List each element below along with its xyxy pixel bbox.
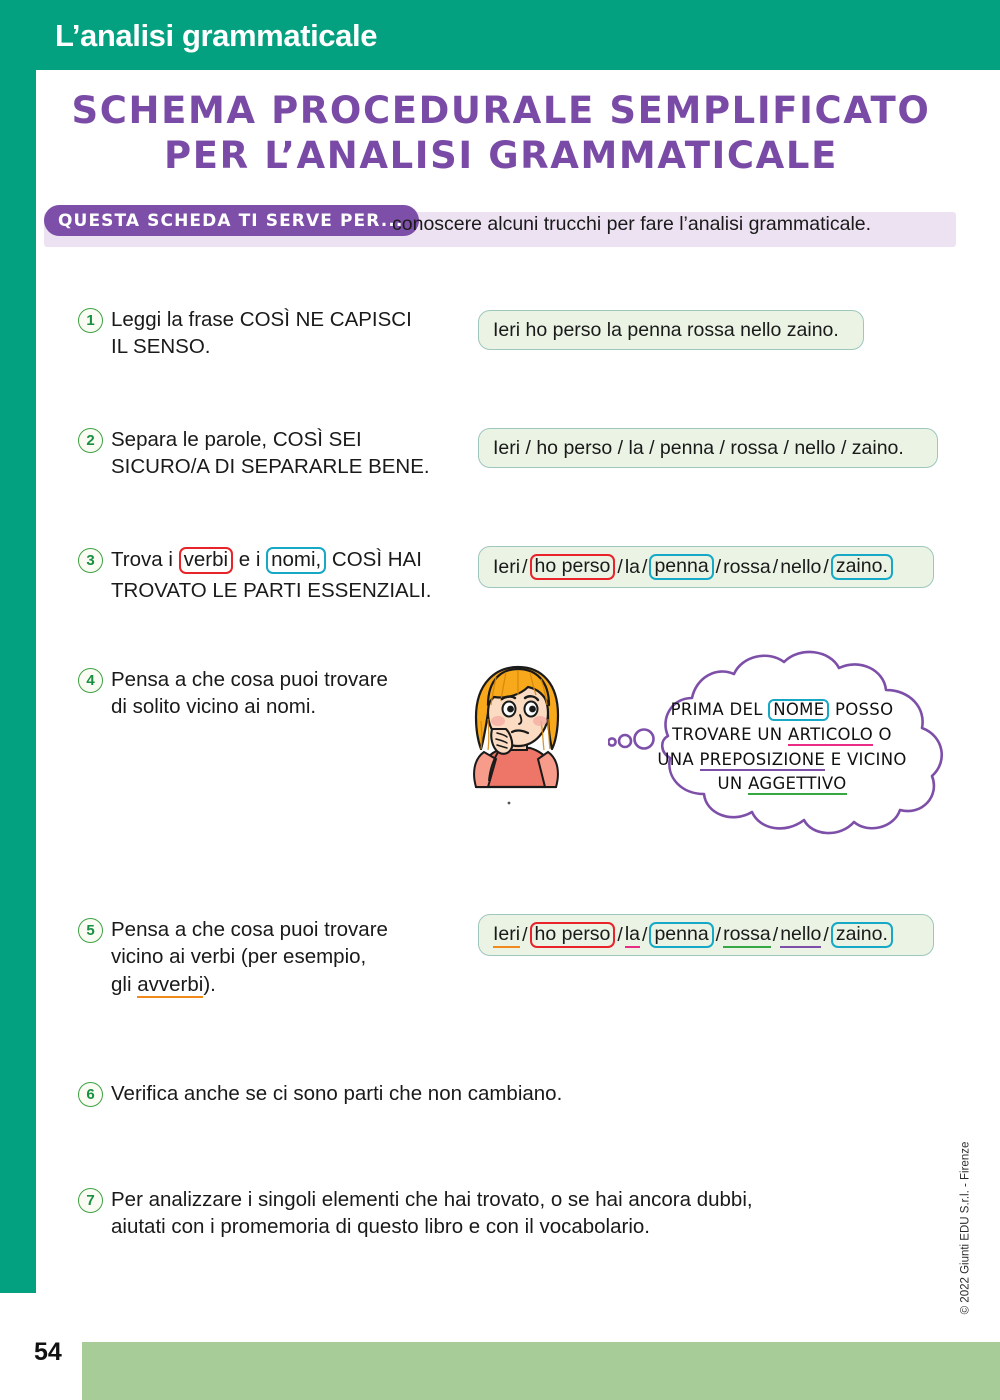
- step-5-l3-pre: gli: [111, 973, 137, 996]
- worksheet-title-line-2: PER L’ANALISI GRAMMATICALE: [36, 133, 966, 178]
- example-3-word-4-noun: penna: [649, 554, 713, 579]
- step-4-number: 4: [78, 668, 103, 693]
- step-1-text: Leggi la frase COSÌ NE CAPISCI IL SENSO.: [111, 306, 412, 361]
- thought-line-3: UNA PREPOSIZIONE E VICINO: [630, 748, 934, 773]
- step-3-mid: e i: [233, 548, 266, 571]
- example-box-1: Ieri ho perso la penna rossa nello zaino…: [478, 310, 864, 350]
- step-5-number: 5: [78, 918, 103, 943]
- example-3-word-2-verb: ho perso: [530, 554, 616, 579]
- example-3-sep-4: /: [714, 556, 723, 579]
- step-3-post: COSÌ HAI: [326, 548, 422, 571]
- step-4-text: Pensa a che cosa puoi trovare di solito …: [111, 666, 388, 721]
- example-5-word-1-adverb: Ieri: [493, 923, 520, 948]
- example-5-sep-3: /: [640, 924, 649, 947]
- page-number: 54: [34, 1338, 62, 1367]
- step-2-text: Separa le parole, COSÌ SEI SICURO/A DI S…: [111, 426, 430, 481]
- example-2-sentence: Ieri / ho perso / la / penna / rossa / n…: [493, 437, 904, 460]
- example-3-sep-1: /: [520, 556, 529, 579]
- thought-underlined-preposizione: PREPOSIZIONE: [700, 750, 826, 771]
- thought-underlined-articolo: ARTICOLO: [788, 725, 873, 746]
- example-3-word-1: Ieri: [493, 556, 520, 579]
- thinking-girl-illustration: [452, 655, 622, 815]
- example-5-sep-6: /: [821, 924, 830, 947]
- step-5-line-3: gli avverbi).: [111, 971, 388, 998]
- serve-per-tag-label: QUESTA SCHEDA TI SERVE PER...: [58, 211, 403, 231]
- copyright-notice: © 2022 Giunti EDU S.r.l. - Firenze: [960, 1136, 972, 1321]
- step-6-text: Verifica anche se ci sono parti che non …: [111, 1080, 562, 1107]
- example-3-sep-5: /: [771, 556, 780, 579]
- step-3-pre: Trova i: [111, 548, 179, 571]
- step-1-line-2: IL SENSO.: [111, 333, 412, 360]
- example-3-word-3: la: [625, 556, 640, 579]
- step-3-boxed-verbi: verbi: [179, 547, 233, 574]
- thought-l2-pre: TROVARE UN: [672, 725, 788, 744]
- example-3-word-7-noun: zaino.: [831, 554, 893, 579]
- thought-underlined-aggettivo: AGGETTIVO: [748, 774, 846, 795]
- thought-line-2: TROVARE UN ARTICOLO O: [630, 723, 934, 748]
- example-5-word-3-article: la: [625, 923, 640, 948]
- step-1-number: 1: [78, 308, 103, 333]
- thought-l3-pre: UNA: [657, 750, 699, 769]
- example-3-sep-2: /: [615, 556, 624, 579]
- thought-l3-post: E VICINO: [825, 750, 907, 769]
- example-5-word-5-adjective: rossa: [723, 923, 771, 948]
- step-5-line-1: Pensa a che cosa puoi trovare: [111, 916, 388, 943]
- step-7-line-1: Per analizzare i singoli elementi che ha…: [111, 1186, 753, 1213]
- thought-boxed-nome: NOME: [768, 699, 829, 721]
- step-2-line-1: Separa le parole, COSÌ SEI: [111, 426, 430, 453]
- step-4-line-2: di solito vicino ai nomi.: [111, 693, 388, 720]
- example-5-word-2-verb: ho perso: [530, 922, 616, 947]
- example-box-5: Ieri/ho perso/la/penna/rossa/nello/zaino…: [478, 914, 934, 956]
- step-3-number: 3: [78, 548, 103, 573]
- page-title: L’analisi grammaticale: [55, 18, 377, 54]
- thought-l2-post: O: [873, 725, 892, 744]
- step-5-line-2: vicino ai verbi (per esempio,: [111, 943, 388, 970]
- example-5-sep-2: /: [615, 924, 624, 947]
- example-5-sep-4: /: [714, 924, 723, 947]
- thought-l1-pre: PRIMA DEL: [671, 700, 769, 719]
- example-3-sep-3: /: [640, 556, 649, 579]
- thought-bubble: PRIMA DEL NOME POSSO TROVARE UN ARTICOLO…: [608, 640, 956, 840]
- thought-line-1: PRIMA DEL NOME POSSO: [630, 698, 934, 723]
- example-3-sep-6: /: [821, 556, 830, 579]
- step-5-underlined-avverbi: avverbi: [137, 973, 203, 998]
- thought-bubble-text: PRIMA DEL NOME POSSO TROVARE UN ARTICOLO…: [630, 698, 934, 797]
- step-3-text: Trova i verbi e i nomi, COSÌ HAI TROVATO…: [111, 546, 432, 604]
- step-1-line-1: Leggi la frase COSÌ NE CAPISCI: [111, 306, 412, 333]
- step-7-text: Per analizzare i singoli elementi che ha…: [111, 1186, 753, 1241]
- step-2-line-2: SICURO/A DI SEPARARLE BENE.: [111, 453, 430, 480]
- left-green-rail: [0, 70, 36, 1293]
- example-box-2: Ieri / ho perso / la / penna / rossa / n…: [478, 428, 938, 468]
- step-6-number: 6: [78, 1082, 103, 1107]
- step-5-l3-post: ).: [203, 973, 216, 996]
- step-6-line-1: Verifica anche se ci sono parti che non …: [111, 1080, 562, 1107]
- example-box-3: Ieri/ho perso/la/penna/rossa/nello/zaino…: [478, 546, 934, 588]
- thought-l4-pre: UN: [718, 774, 749, 793]
- example-1-sentence: Ieri ho perso la penna rossa nello zaino…: [493, 319, 839, 342]
- thought-line-4: UN AGGETTIVO: [630, 772, 934, 797]
- step-7-line-2: aiutati con i promemoria di questo libro…: [111, 1213, 753, 1240]
- example-5-word-6-preposition: nello: [780, 923, 821, 948]
- step-7-number: 7: [78, 1188, 103, 1213]
- example-3-word-6: nello: [780, 556, 821, 579]
- step-3-boxed-nomi: nomi,: [266, 547, 326, 574]
- step-2-number: 2: [78, 428, 103, 453]
- step-3-line-2: TROVATO LE PARTI ESSENZIALI.: [111, 577, 432, 604]
- serve-per-description: conoscere alcuni trucchi per fare l’anal…: [392, 213, 871, 236]
- step-4-line-1: Pensa a che cosa puoi trovare: [111, 666, 388, 693]
- example-5-word-7-noun: zaino.: [831, 922, 893, 947]
- worksheet-title: SCHEMA PROCEDURALE SEMPLIFICATO PER L’AN…: [36, 88, 966, 178]
- step-5-text: Pensa a che cosa puoi trovare vicino ai …: [111, 916, 388, 998]
- worksheet-title-line-1: SCHEMA PROCEDURALE SEMPLIFICATO: [72, 89, 931, 132]
- step-3-line-1: Trova i verbi e i nomi, COSÌ HAI: [111, 546, 432, 574]
- serve-per-tag: QUESTA SCHEDA TI SERVE PER...: [44, 205, 419, 236]
- example-5-sep-1: /: [520, 924, 529, 947]
- example-3-word-5: rossa: [723, 556, 771, 579]
- example-5-word-4-noun: penna: [649, 922, 713, 947]
- footer-bar: [82, 1342, 1000, 1400]
- thought-l1-post: POSSO: [829, 700, 893, 719]
- example-5-sep-5: /: [771, 924, 780, 947]
